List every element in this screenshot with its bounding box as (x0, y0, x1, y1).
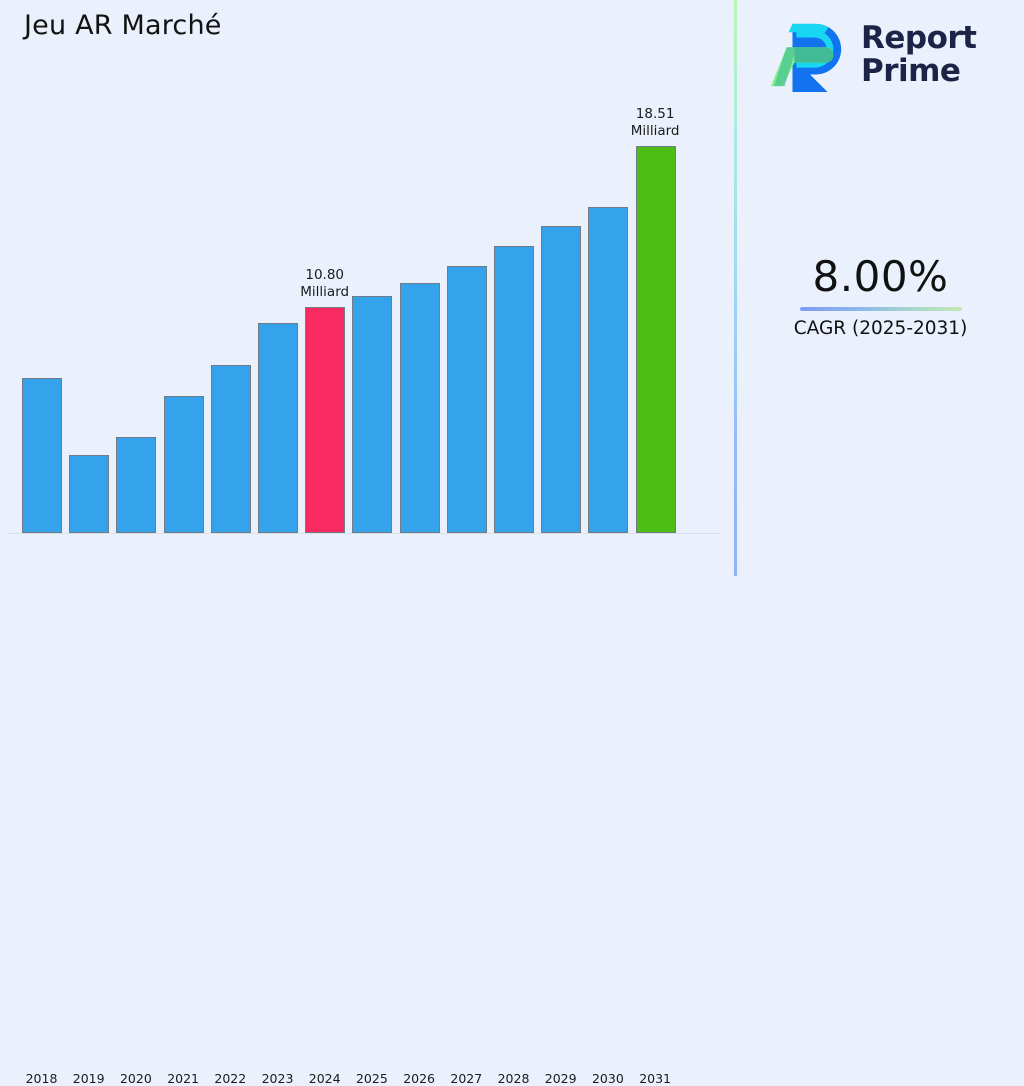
bar-2018[interactable] (22, 378, 62, 533)
bar-2026[interactable] (400, 283, 440, 533)
bar-value-number-2024: 10.80 (300, 267, 349, 284)
bar-2020[interactable] (116, 437, 156, 533)
cagr-block: 8.00% CAGR (2025-2031) (737, 252, 1024, 341)
x-tick-2022: 2022 (214, 1071, 246, 1086)
x-tick-2024: 2024 (309, 1071, 341, 1086)
x-tick-2029: 2029 (545, 1071, 577, 1086)
brand-logo[interactable]: Report Prime (771, 12, 1003, 98)
bar-2030[interactable] (588, 207, 628, 533)
bar-2024[interactable] (305, 307, 345, 533)
bar-2023[interactable] (258, 323, 298, 533)
x-tick-2019: 2019 (73, 1071, 105, 1086)
bar-value-label-2031: 18.51Milliard (631, 106, 680, 140)
bar-value-label-2024: 10.80Milliard (300, 267, 349, 301)
bar-2022[interactable] (211, 365, 251, 533)
cagr-divider-rule (800, 307, 962, 311)
bar-2031[interactable] (636, 146, 676, 533)
bar-2027[interactable] (447, 266, 487, 533)
infographic-page: Jeu AR Marché 20182019202020212022202310… (0, 0, 1024, 576)
x-tick-2030: 2030 (592, 1071, 624, 1086)
bar-2029[interactable] (541, 226, 581, 533)
bar-value-number-2031: 18.51 (631, 106, 680, 123)
cagr-caption: CAGR (2025-2031) (737, 317, 1024, 341)
x-tick-2025: 2025 (356, 1071, 388, 1086)
bar-chart: 20182019202020212022202310.80Milliard202… (0, 0, 735, 576)
x-tick-2028: 2028 (498, 1071, 530, 1086)
bar-2019[interactable] (69, 455, 109, 533)
bar-2028[interactable] (494, 246, 534, 533)
x-tick-2031: 2031 (639, 1071, 671, 1086)
bar-2025[interactable] (352, 296, 392, 533)
x-tick-2020: 2020 (120, 1071, 152, 1086)
bar-2021[interactable] (164, 396, 204, 533)
chart-panel: Jeu AR Marché 20182019202020212022202310… (0, 0, 735, 576)
brand-wordmark: Report Prime (861, 22, 977, 88)
x-axis-line (8, 533, 720, 534)
x-tick-2026: 2026 (403, 1071, 435, 1086)
x-tick-2021: 2021 (167, 1071, 199, 1086)
brand-panel: Report Prime 8.00% CAGR (2025-2031) (737, 0, 1024, 576)
bar-value-unit-2024: Milliard (300, 284, 349, 301)
x-tick-2018: 2018 (26, 1071, 58, 1086)
brand-name-line2: Prime (861, 55, 977, 88)
brand-name-line1: Report (861, 22, 977, 55)
report-prime-logo-icon (771, 18, 849, 92)
x-tick-2027: 2027 (450, 1071, 482, 1086)
cagr-value: 8.00% (737, 252, 1024, 302)
bar-value-unit-2031: Milliard (631, 123, 680, 140)
x-tick-2023: 2023 (262, 1071, 294, 1086)
